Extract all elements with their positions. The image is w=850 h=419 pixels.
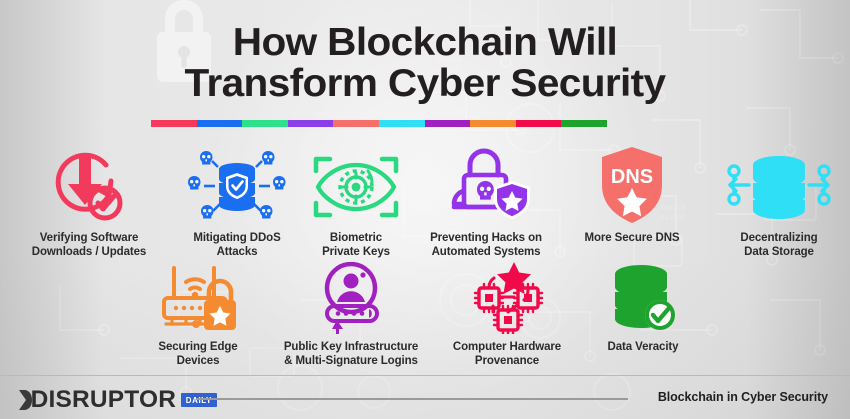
logo-daily-badge: DAILY: [181, 393, 217, 407]
benefit-label: Computer Hardware Provenance: [453, 341, 561, 368]
benefit-label: More Secure DNS: [584, 232, 679, 246]
benefit-label: Mitigating DDoS Attacks: [193, 232, 280, 259]
benefit-row-1: Verifying Software Downloads / Updates: [0, 141, 850, 259]
accent-seg-7: [425, 120, 471, 127]
benefit-item-public-key-infrastructure[interactable]: Public Key Infrastructure & Multi-Signat…: [266, 262, 436, 368]
dns-label: DNS: [611, 166, 653, 188]
dns-shield-icon: DNS: [598, 145, 666, 225]
laptop-lock-skull-icon: [440, 145, 532, 225]
benefit-label: Preventing Hacks on Automated Systems: [430, 232, 542, 259]
benefit-item-more-secure-dns[interactable]: DNS More Secure DNS: [556, 141, 708, 259]
benefit-item-mitigating-ddos-attacks[interactable]: Mitigating DDoS Attacks: [178, 141, 296, 259]
title-line-1: How Blockchain Will: [0, 22, 850, 63]
database-skulls-icon: [188, 147, 286, 225]
benefit-item-computer-hardware-provenance[interactable]: Computer Hardware Provenance: [436, 262, 578, 368]
accent-seg-9: [516, 120, 562, 127]
benefit-item-decentralizing-data-storage[interactable]: Decentralizing Data Storage: [708, 141, 850, 259]
download-verify-icon: [50, 145, 128, 225]
accent-seg-4: [288, 120, 334, 127]
chip-3: [494, 306, 522, 334]
footer-connector-line: [196, 398, 628, 400]
eye-scan-icon: [308, 149, 404, 225]
benefit-label: Verifying Software Downloads / Updates: [32, 232, 146, 259]
user-password-key-icon: [309, 262, 393, 334]
database-check-icon: [605, 262, 681, 334]
accent-seg-8: [470, 120, 516, 127]
benefit-item-securing-edge-devices[interactable]: Securing Edge Devices: [130, 262, 266, 368]
accent-seg-5: [333, 120, 379, 127]
footer: DISRUPTOR DAILY Blockchain in Cyber Secu…: [0, 375, 850, 419]
chip-1: [475, 284, 503, 312]
benefit-label: Public Key Infrastructure & Multi-Signat…: [284, 341, 418, 368]
benefit-row-2: Securing Edge Devices Public Key Infrast…: [0, 262, 850, 368]
accent-seg-1: [151, 120, 197, 127]
benefit-label: Decentralizing Data Storage: [740, 232, 817, 259]
benefit-label: Securing Edge Devices: [158, 341, 237, 368]
benefit-label: Data Veracity: [608, 341, 679, 355]
accent-seg-6: [379, 120, 425, 127]
chips-star-icon: [464, 262, 550, 334]
benefit-label: Biometric Private Keys: [322, 232, 390, 259]
disruptor-daily-logo[interactable]: DISRUPTOR DAILY: [18, 386, 217, 414]
logo-wordmark: DISRUPTOR: [31, 386, 177, 414]
title-line-2: Transform Cyber Security: [0, 63, 850, 104]
footer-tagline: Blockchain in Cyber Security: [658, 390, 828, 404]
router-lock-icon: [152, 262, 244, 334]
database-arrows-icon: [724, 149, 834, 225]
chip-2: [514, 284, 542, 312]
accent-color-bar: [151, 120, 607, 127]
accent-seg-10: [561, 120, 607, 127]
benefit-item-biometric-private-keys[interactable]: Biometric Private Keys: [296, 141, 416, 259]
footer-divider: [0, 375, 850, 376]
benefit-item-verifying-software-downloads[interactable]: Verifying Software Downloads / Updates: [0, 141, 178, 259]
accent-seg-3: [242, 120, 288, 127]
page-title: How Blockchain Will Transform Cyber Secu…: [0, 22, 850, 104]
benefit-item-data-veracity[interactable]: Data Veracity: [578, 262, 708, 368]
accent-seg-2: [197, 120, 243, 127]
benefit-item-preventing-hacks-automated[interactable]: Preventing Hacks on Automated Systems: [416, 141, 556, 259]
